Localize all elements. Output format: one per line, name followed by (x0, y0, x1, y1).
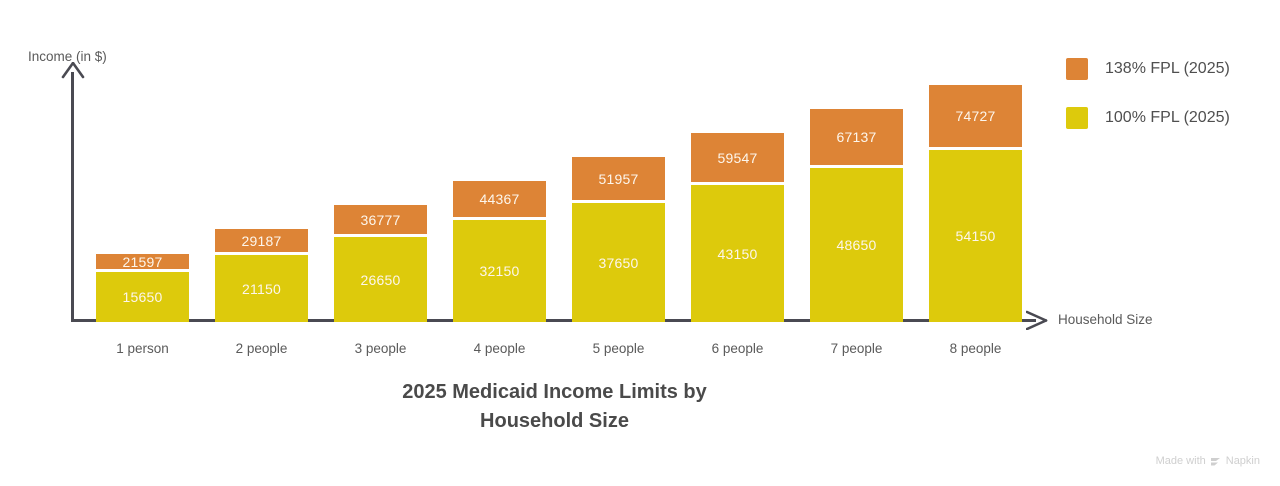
x-axis-title: Household Size (1058, 312, 1153, 327)
bar-value-label: 51957 (599, 171, 639, 187)
bar-segment-upper[interactable]: 36777 (334, 205, 427, 237)
bar-value-label: 48650 (837, 237, 877, 253)
bar-value-label: 21597 (123, 254, 163, 270)
bar-segment-lower[interactable]: 54150 (929, 150, 1022, 322)
bar-group[interactable]: 2159715650 (96, 254, 189, 322)
legend-item-label: 138% FPL (2025) (1105, 60, 1230, 78)
legend-item[interactable]: 100% FPL (2025) (1066, 105, 1280, 131)
bar-group[interactable]: 6713748650 (810, 109, 903, 322)
bar-value-label: 29187 (242, 233, 282, 249)
x-axis-category-label: 1 person (96, 341, 189, 356)
chart-canvas: Income (in $) Household Size 21597156502… (0, 0, 1060, 370)
watermark-brand: Napkin (1226, 455, 1260, 467)
bar-segment-upper[interactable]: 51957 (572, 157, 665, 203)
x-axis-category-label: 3 people (334, 341, 427, 356)
bar-segment-upper[interactable]: 59547 (691, 133, 784, 185)
x-axis-category-label: 2 people (215, 341, 308, 356)
chart-legend: 138% FPL (2025)100% FPL (2025) (1066, 56, 1280, 154)
x-axis-category-label: 6 people (691, 341, 784, 356)
bar-value-label: 54150 (956, 228, 996, 244)
bar-segment-upper[interactable]: 67137 (810, 109, 903, 168)
bar-segment-lower[interactable]: 21150 (215, 255, 308, 322)
napkin-logo-icon (1210, 456, 1222, 467)
bar-value-label: 21150 (242, 281, 281, 297)
bar-group[interactable]: 5954743150 (691, 133, 784, 322)
legend-color-swatch (1066, 58, 1088, 80)
x-axis-category-label: 8 people (929, 341, 1022, 356)
bar-segment-upper[interactable]: 29187 (215, 229, 308, 255)
bar-group[interactable]: 5195737650 (572, 157, 665, 322)
bar-group[interactable]: 4436732150 (453, 181, 546, 322)
bar-value-label: 36777 (361, 212, 401, 228)
bar-segment-upper[interactable]: 74727 (929, 85, 1022, 150)
napkin-watermark: Made with Napkin (1156, 455, 1260, 467)
bar-value-label: 44367 (480, 191, 520, 207)
bar-value-label: 74727 (956, 108, 996, 124)
bar-group[interactable]: 3677726650 (334, 205, 427, 322)
bar-value-label: 15650 (123, 289, 163, 305)
chart-title-line-1: 2025 Medicaid Income Limits by (72, 378, 1037, 407)
bar-value-label: 67137 (837, 129, 877, 145)
bar-segment-lower[interactable]: 43150 (691, 185, 784, 322)
watermark-prefix: Made with (1156, 455, 1206, 467)
bar-segment-lower[interactable]: 15650 (96, 272, 189, 322)
bar-value-label: 43150 (718, 246, 758, 262)
bar-value-label: 26650 (361, 272, 401, 288)
legend-item[interactable]: 138% FPL (2025) (1066, 56, 1280, 82)
bar-value-label: 32150 (480, 263, 520, 279)
x-axis-category-label: 7 people (810, 341, 903, 356)
bar-series-container: 2159715650291872115036777266504436732150… (0, 0, 1060, 322)
bar-segment-lower[interactable]: 32150 (453, 220, 546, 322)
bar-segment-upper[interactable]: 44367 (453, 181, 546, 220)
chart-title-line-2: Household Size (72, 407, 1037, 436)
bar-group[interactable]: 2918721150 (215, 229, 308, 322)
bar-segment-upper[interactable]: 21597 (96, 254, 189, 272)
bar-segment-lower[interactable]: 26650 (334, 237, 427, 322)
bar-value-label: 59547 (718, 150, 758, 166)
bar-group[interactable]: 7472754150 (929, 85, 1022, 322)
x-axis-category-label: 4 people (453, 341, 546, 356)
legend-item-label: 100% FPL (2025) (1105, 109, 1230, 127)
x-axis-category-label: 5 people (572, 341, 665, 356)
bar-segment-lower[interactable]: 37650 (572, 203, 665, 322)
bar-value-label: 37650 (599, 255, 639, 271)
legend-color-swatch (1066, 107, 1088, 129)
bar-segment-lower[interactable]: 48650 (810, 168, 903, 322)
chart-title: 2025 Medicaid Income Limits by Household… (72, 378, 1037, 436)
